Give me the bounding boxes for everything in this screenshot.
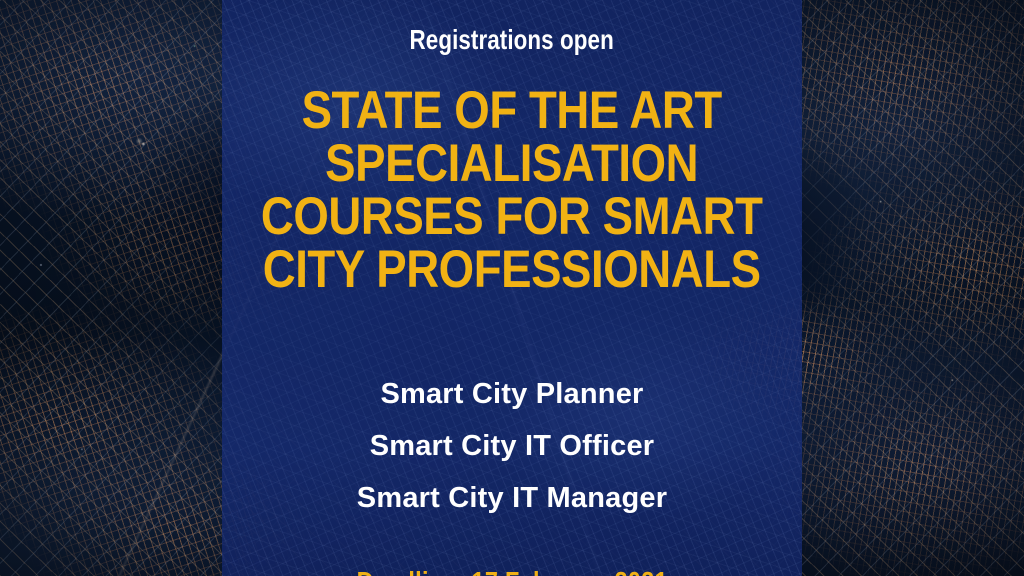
list-item: Smart City IT Officer <box>357 431 667 461</box>
kicker-text: Registrations open <box>410 25 614 56</box>
headline-line-4: CITY PROFESSIONALS <box>261 243 763 296</box>
headline-line-1: STATE OF THE ART <box>261 84 763 137</box>
deadline-text: Deadline: 17 February 2021 <box>356 567 667 576</box>
headline-line-3: COURSES FOR SMART <box>261 190 763 243</box>
poster-content: Registrations open STATE OF THE ART SPEC… <box>222 0 802 576</box>
list-item: Smart City IT Manager <box>357 483 667 513</box>
promotional-poster: Registrations open STATE OF THE ART SPEC… <box>0 0 1024 576</box>
list-item: Smart City Planner <box>357 379 667 409</box>
course-list: Smart City Planner Smart City IT Officer… <box>357 379 667 513</box>
page-title: STATE OF THE ART SPECIALISATION COURSES … <box>220 84 803 296</box>
headline-line-2: SPECIALISATION <box>261 137 763 190</box>
